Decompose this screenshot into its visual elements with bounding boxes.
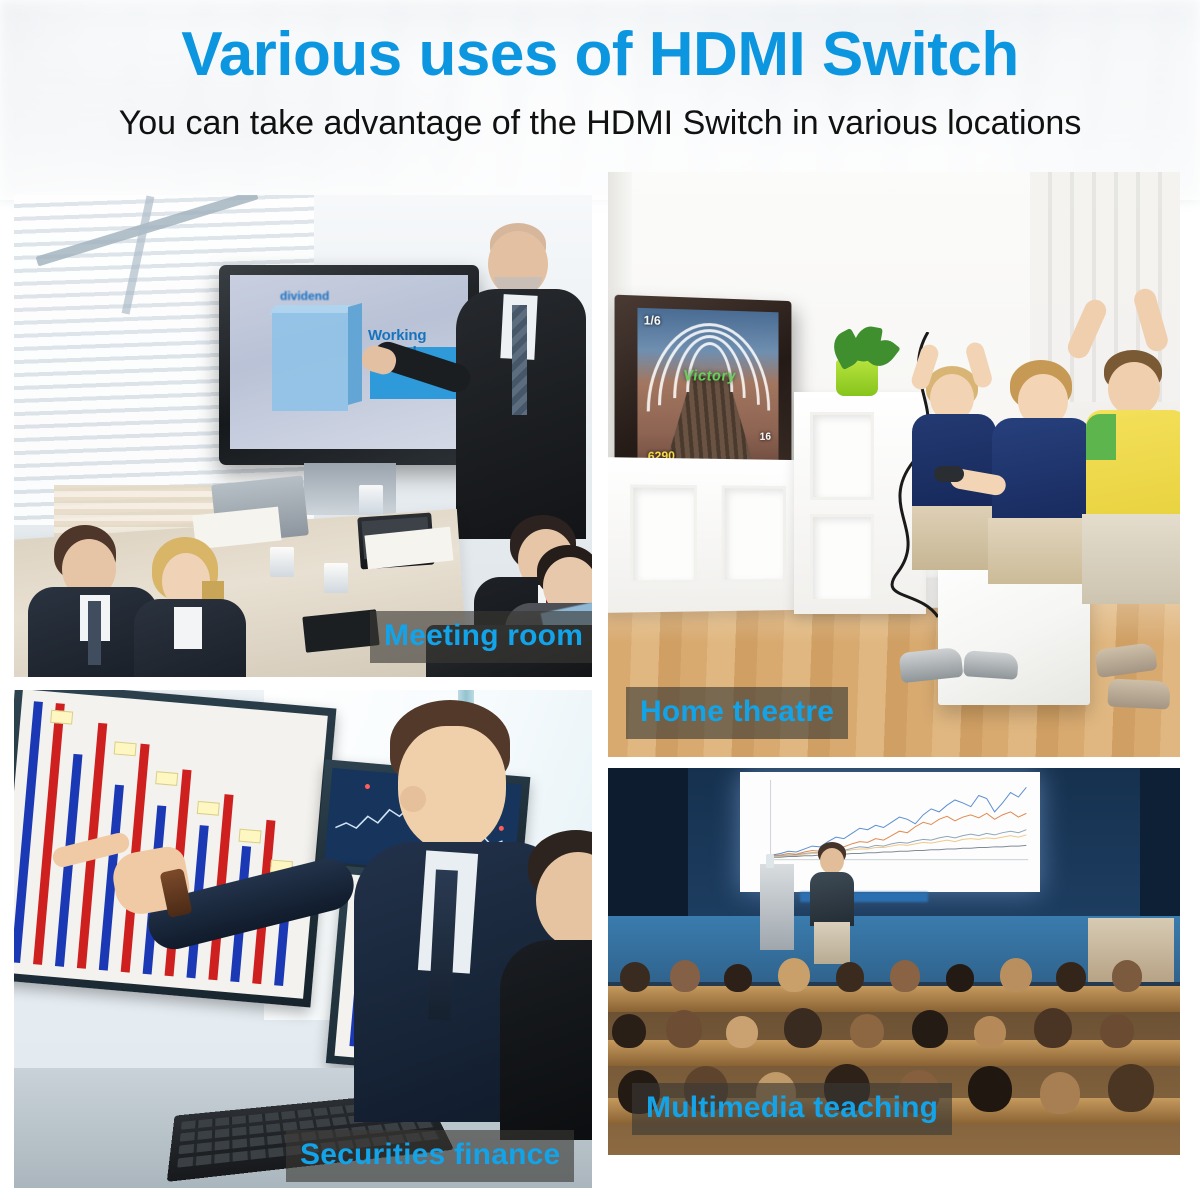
caption-multimedia-teaching: Multimedia teaching <box>632 1083 952 1135</box>
adult-face <box>1108 362 1160 416</box>
panel-meeting-room: dividend Working Capital <box>14 195 592 677</box>
adult-shoe-right <box>1107 678 1170 709</box>
audience-head <box>670 960 700 992</box>
caption-home-theatre: Home theatre <box>626 687 848 739</box>
panel-securities-finance: Securities finance <box>14 690 592 1188</box>
audience-head <box>1056 962 1086 992</box>
water-glass-1 <box>270 547 294 577</box>
water-glass-2 <box>324 563 348 593</box>
adult-shorts <box>1082 514 1180 604</box>
audience-head <box>1108 1064 1154 1112</box>
water-bottle <box>766 854 774 868</box>
audience-head <box>946 964 974 992</box>
audience-head <box>778 958 810 992</box>
game-hud-count: 16 <box>760 431 771 443</box>
podium <box>760 864 794 950</box>
audience-head <box>850 1014 884 1048</box>
page-subtitle: You can take advantage of the HDMI Switc… <box>0 104 1200 143</box>
attendee-left-tie <box>88 601 101 665</box>
colleague-person <box>514 830 592 1130</box>
stage-right-wall <box>1140 768 1180 938</box>
trading-monitor-1-screen <box>14 690 328 999</box>
child-shoe-right <box>963 650 1019 680</box>
water-glass-3 <box>359 485 383 515</box>
attendee-woman <box>134 537 254 677</box>
attendee-woman-blouse <box>174 607 202 649</box>
audience-head <box>836 962 864 992</box>
audience-head <box>912 1010 948 1048</box>
audience-head <box>666 1010 702 1048</box>
slide-box-side-face <box>348 303 362 405</box>
caption-meeting-room: Meeting room <box>370 611 592 663</box>
audience-bench-row-1 <box>608 986 1180 1012</box>
child-left-polo <box>912 414 996 512</box>
child-right-polo <box>992 418 1092 524</box>
presenter-tie <box>512 305 527 415</box>
game-controller <box>934 466 964 482</box>
audience-head <box>724 964 752 992</box>
audience-head <box>1112 960 1142 992</box>
audience-head <box>968 1066 1012 1112</box>
audience-head <box>1040 1072 1080 1114</box>
child-left-trousers <box>912 506 996 570</box>
audience-head <box>1034 1008 1072 1048</box>
home-theatre-photo: Victory 1/6 16 6290 <box>608 172 1180 757</box>
adult-shirt-green-sleeve <box>1086 414 1116 460</box>
shelf-cube-2 <box>722 485 786 582</box>
slide-box-front-face <box>272 313 348 411</box>
trader-ear <box>400 786 426 812</box>
speaker-jacket <box>810 872 854 926</box>
projected-line-chart <box>758 780 1030 867</box>
audience-head <box>726 1016 758 1048</box>
meeting-room-photo: dividend Working Capital <box>14 195 592 677</box>
caption-securities-finance: Securities finance <box>286 1130 574 1182</box>
panel-home-theatre: Victory 1/6 16 6290 <box>608 172 1180 757</box>
game-hud-position: 1/6 <box>644 313 661 328</box>
game-victory-banner: Victory <box>682 368 737 385</box>
black-folder <box>302 609 379 653</box>
audience-head <box>1100 1014 1134 1048</box>
page-title: Various uses of HDMI Switch <box>0 22 1200 87</box>
child-right-trousers <box>988 518 1092 584</box>
audience-head <box>620 962 650 992</box>
panel-multimedia-teaching: Multimedia teaching <box>608 768 1180 1155</box>
audience-head <box>612 1014 646 1048</box>
adult-cheering <box>1080 314 1180 604</box>
audience-head <box>974 1016 1006 1048</box>
speaker-face <box>820 848 844 874</box>
slide-dividend-label: dividend <box>280 289 329 303</box>
speaker-person <box>806 842 858 958</box>
audience-head <box>784 1008 822 1048</box>
tv-screen: Victory 1/6 16 6290 <box>637 308 778 470</box>
presenter-person <box>444 223 592 553</box>
audience-head <box>890 960 920 992</box>
securities-finance-photo <box>14 690 592 1188</box>
audience-head <box>1000 958 1032 992</box>
promo-infographic: Various uses of HDMI Switch You can take… <box>0 0 1200 1200</box>
colleague-suit <box>500 940 592 1140</box>
shelf-cube-1 <box>630 484 697 583</box>
